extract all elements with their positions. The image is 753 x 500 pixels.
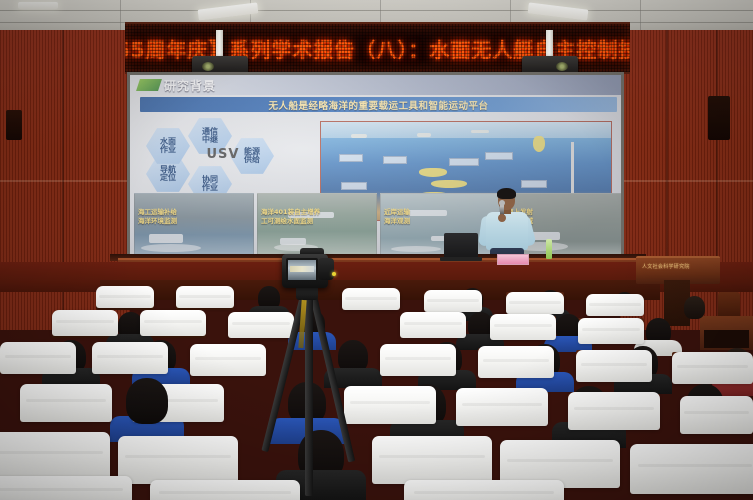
seat (96, 286, 154, 308)
speaker-torso (486, 212, 528, 250)
seat (576, 350, 652, 382)
seat (228, 312, 294, 338)
seat (586, 294, 644, 316)
diagram-auv (419, 168, 447, 177)
seat (404, 480, 564, 500)
projector-pole-right (546, 30, 553, 58)
seat (118, 436, 238, 484)
seat (0, 342, 76, 374)
seat (630, 444, 753, 494)
side-chair (718, 292, 740, 318)
seat (424, 290, 482, 312)
seat (578, 318, 644, 344)
wall-speaker-box-left (6, 110, 22, 140)
photo-caption: 海洋401装自主增养 工可测绘水面监测 (261, 208, 320, 226)
tripod-head (296, 286, 318, 300)
seat (568, 392, 660, 430)
seat (372, 436, 492, 484)
seat (52, 310, 118, 336)
camera-record-indicator (332, 272, 336, 276)
diagram-surface-vessel (417, 133, 431, 137)
seat (506, 292, 564, 314)
seat (400, 312, 466, 338)
tripod-leg-center (305, 296, 313, 496)
laptop (444, 233, 478, 259)
seat (344, 386, 436, 424)
seat (176, 286, 234, 308)
hex-surface-operation: 水面作业 (146, 127, 190, 165)
slide-title: 研究背景 (164, 77, 216, 94)
seat (456, 388, 548, 426)
usv-center-label: USV (193, 147, 253, 162)
seat (92, 342, 168, 374)
projector-lens-icon (202, 62, 214, 71)
slide-photo: 海工运输补给 海洋环境监测 (134, 193, 254, 261)
seat (342, 288, 400, 310)
slide-subtitle: 无人船是经略海洋的重要载运工具和智能运动平台 (268, 98, 488, 112)
seat (478, 346, 554, 378)
seat (680, 396, 753, 434)
photo-caption: 海工运输补给 海洋环境监测 (138, 208, 177, 226)
attendee-head (126, 378, 168, 424)
lecture-hall-photo: 【65周年庆】系列学术报告（八）：水面无人艇自主控制技术 研究背景 无人船是经略… (0, 0, 753, 500)
seat (190, 344, 266, 376)
photo-caption: 近岸运输 海洋观测 (384, 208, 410, 226)
camera-lcd-preview (290, 266, 314, 272)
seat (0, 476, 132, 500)
camera-lcd-screen[interactable] (286, 258, 318, 282)
speaker-hair (497, 188, 516, 199)
seat (490, 314, 556, 340)
seat (150, 480, 300, 500)
diagram-glider (431, 180, 467, 188)
projector-lens-icon (556, 62, 568, 71)
diagram-surface-vessel (351, 134, 367, 138)
diagram-buoy (533, 136, 545, 152)
water-bottle (546, 239, 552, 259)
wall-speaker-box-right (708, 96, 730, 140)
attendee-head (684, 296, 705, 319)
slide-accent-shape (136, 79, 162, 91)
seat (140, 310, 206, 336)
slide-subtitle-bar: 无人船是经略海洋的重要载运工具和智能运动平台 (140, 97, 617, 112)
seat (380, 344, 456, 376)
presentation-slide: 研究背景 无人船是经略海洋的重要载运工具和智能运动平台 通信中继 能源供给 协同… (130, 75, 621, 261)
side-table (700, 316, 753, 350)
seat (20, 384, 112, 422)
diagram-aircraft (471, 130, 489, 133)
seat (672, 352, 753, 384)
seat (0, 432, 110, 480)
name-card (497, 254, 529, 265)
speaker-hand (498, 214, 506, 222)
camera-lens-icon (318, 258, 334, 280)
projection-screen: 研究背景 无人船是经略海洋的重要载运工具和智能运动平台 通信中继 能源供给 协同… (127, 72, 624, 264)
ceiling-lamp-far-left (18, 2, 58, 9)
projector-pole-left (216, 30, 223, 58)
lectern-plaque-text: 人文社会科学研究院 (642, 263, 714, 270)
